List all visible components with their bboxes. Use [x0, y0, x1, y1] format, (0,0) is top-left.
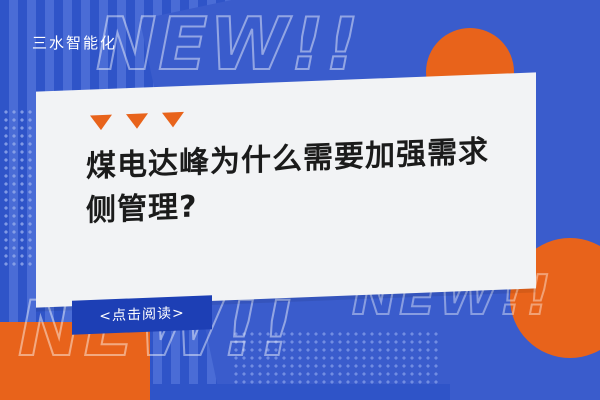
- triangle-down-icon: [90, 115, 112, 131]
- poster-canvas: NEW!! NEW!! NEW!! 三水智能化 煤电达峰为什么需要加强需求侧管理…: [0, 0, 600, 400]
- brand-name: 三水智能化: [32, 32, 117, 53]
- decorative-word-art-top: NEW!!: [96, 2, 361, 86]
- triangle-down-icon: [126, 113, 148, 129]
- headline-card-content: 煤电达峰为什么需要加强需求侧管理?: [36, 72, 536, 307]
- arrow-group: [90, 112, 184, 131]
- read-more-button-label[interactable]: <点击阅读>: [72, 295, 212, 334]
- triangle-down-icon: [162, 112, 184, 128]
- page-title: 煤电达峰为什么需要加强需求侧管理?: [86, 130, 506, 233]
- blue-strip-bottom: [150, 384, 450, 400]
